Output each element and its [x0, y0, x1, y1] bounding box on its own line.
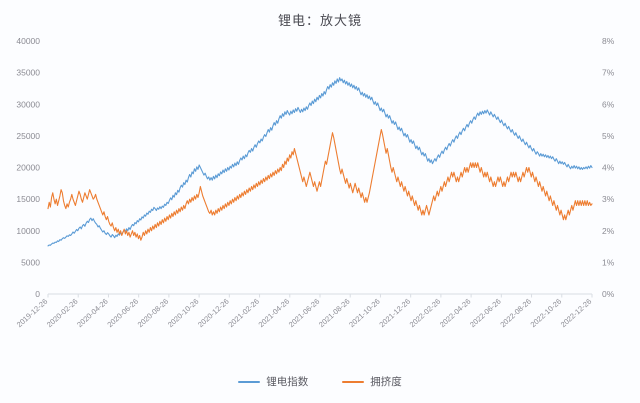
x-axis-label: 2021-06-26 — [287, 297, 322, 329]
legend-item-index[interactable]: 锂电指数 — [238, 374, 308, 389]
x-axis-label: 2020-10-26 — [166, 297, 201, 329]
y-axis-right-tick: 6% — [602, 99, 615, 109]
chart-plot-area: 0500010000150002000025000300003500040000… — [0, 0, 640, 403]
legend-item-crowding[interactable]: 拥挤度 — [342, 374, 402, 389]
y-axis-left-tick: 40000 — [16, 36, 40, 46]
x-axis-label: 2020-08-26 — [136, 297, 171, 329]
legend-label-crowding: 拥挤度 — [370, 374, 402, 389]
y-axis-left-tick: 15000 — [16, 194, 40, 204]
x-axis-label: 2022-02-26 — [408, 297, 443, 329]
series-line-crowding — [48, 130, 592, 241]
legend-swatch-crowding — [342, 381, 364, 383]
x-axis-label: 2021-10-26 — [347, 297, 382, 329]
y-axis-left-tick: 0 — [35, 289, 40, 299]
x-axis-label: 2021-02-26 — [226, 297, 261, 329]
y-axis-right-tick: 2% — [602, 226, 615, 236]
y-axis-right-tick: 3% — [602, 194, 615, 204]
y-axis-left: 0500010000150002000025000300003500040000 — [16, 36, 40, 299]
x-axis-label: 2020-12-26 — [196, 297, 231, 329]
x-axis-label: 2019-12-26 — [15, 297, 50, 329]
x-axis-label: 2020-06-26 — [105, 297, 140, 329]
series-line-index — [48, 78, 592, 246]
chart-container: 锂电：放大镜 050001000015000200002500030000350… — [0, 0, 640, 403]
y-axis-left-tick: 20000 — [16, 163, 40, 173]
legend-label-index: 锂电指数 — [266, 374, 308, 389]
y-axis-left-tick: 5000 — [21, 257, 40, 267]
y-axis-right-tick: 7% — [602, 68, 615, 78]
y-axis-right-tick: 5% — [602, 131, 615, 141]
x-axis-label: 2021-08-26 — [317, 297, 352, 329]
y-axis-right-tick: 8% — [602, 36, 615, 46]
x-axis-label: 2020-02-26 — [45, 297, 80, 329]
y-axis-right-tick: 0% — [602, 289, 615, 299]
y-axis-left-tick: 30000 — [16, 99, 40, 109]
x-axis-label: 2022-08-26 — [498, 297, 533, 329]
x-axis-label: 2021-12-26 — [377, 297, 412, 329]
y-axis-left-tick: 35000 — [16, 68, 40, 78]
x-axis-label: 2022-10-26 — [529, 297, 564, 329]
chart-legend: 锂电指数 拥挤度 — [0, 374, 640, 389]
y-axis-left-tick: 10000 — [16, 226, 40, 236]
legend-swatch-index — [238, 381, 260, 383]
x-axis-label: 2021-04-26 — [257, 297, 292, 329]
y-axis-right-tick: 1% — [602, 257, 615, 267]
x-axis: 2019-12-262020-02-262020-04-262020-06-26… — [15, 294, 594, 329]
x-axis-label: 2022-12-26 — [559, 297, 594, 329]
series-lines — [48, 78, 592, 246]
y-axis-right-tick: 4% — [602, 163, 615, 173]
y-axis-right: 0%1%2%3%4%5%6%7%8% — [602, 36, 615, 299]
x-axis-label: 2022-06-26 — [468, 297, 503, 329]
x-axis-label: 2022-04-26 — [438, 297, 473, 329]
x-axis-label: 2020-04-26 — [75, 297, 110, 329]
y-axis-left-tick: 25000 — [16, 131, 40, 141]
